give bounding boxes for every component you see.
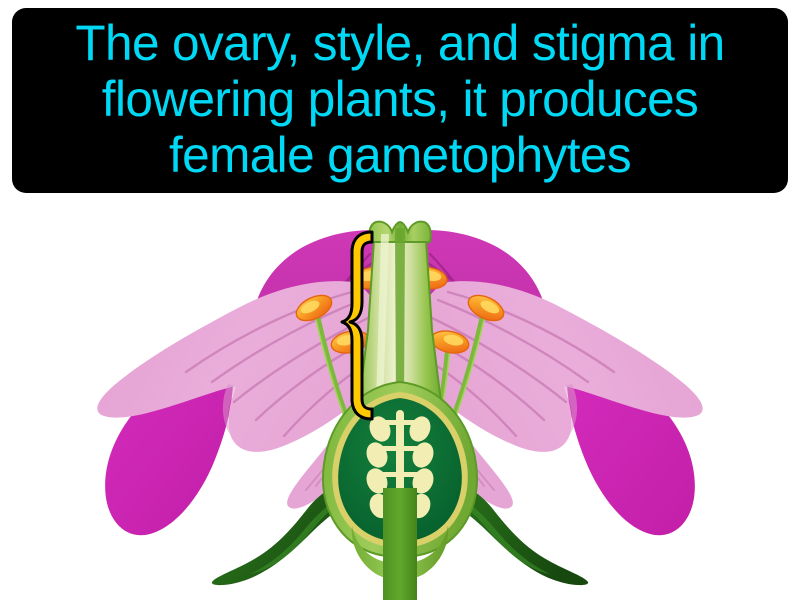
stem [383,488,417,564]
flower-cross-section-diagram [0,196,800,600]
definition-banner: The ovary, style, and stigma in flowerin… [12,8,788,193]
flower-illustration-svg [0,196,800,600]
definition-text: The ovary, style, and stigma in flowerin… [22,15,778,183]
definition-card: The ovary, style, and stigma in flowerin… [0,0,800,600]
stem-shaft [383,562,417,600]
style-center-stripe [395,228,405,406]
